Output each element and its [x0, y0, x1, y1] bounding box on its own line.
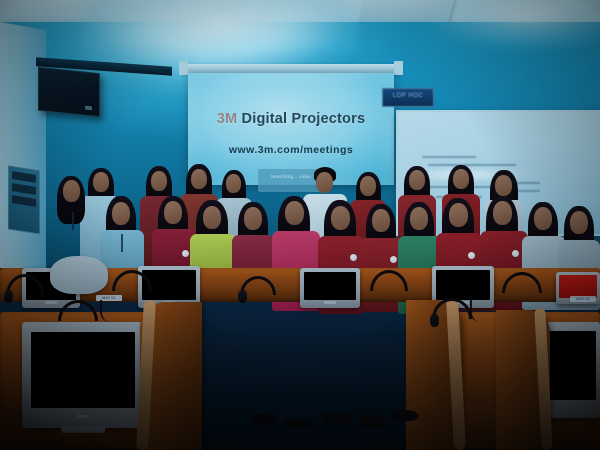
- shoe-4: [358, 416, 386, 427]
- headphone-cup-1: [4, 290, 13, 303]
- classroom-photo: 3M Digital Projectors www.3m.com/meeting…: [0, 0, 600, 450]
- shoe-3: [322, 412, 352, 424]
- headphone-cup-front-right: [430, 314, 439, 327]
- shoe-5: [392, 410, 418, 421]
- backpack: [50, 256, 108, 294]
- shoe-1: [252, 414, 278, 425]
- desk-tag-2: MAY 02: [570, 296, 596, 302]
- shoe-2: [284, 418, 312, 429]
- cable-left: [100, 300, 128, 322]
- monitor-back-3: [300, 268, 360, 308]
- cable-right: [470, 296, 502, 322]
- headphone-cup-3: [238, 290, 247, 303]
- monitor-front-left: [22, 322, 144, 428]
